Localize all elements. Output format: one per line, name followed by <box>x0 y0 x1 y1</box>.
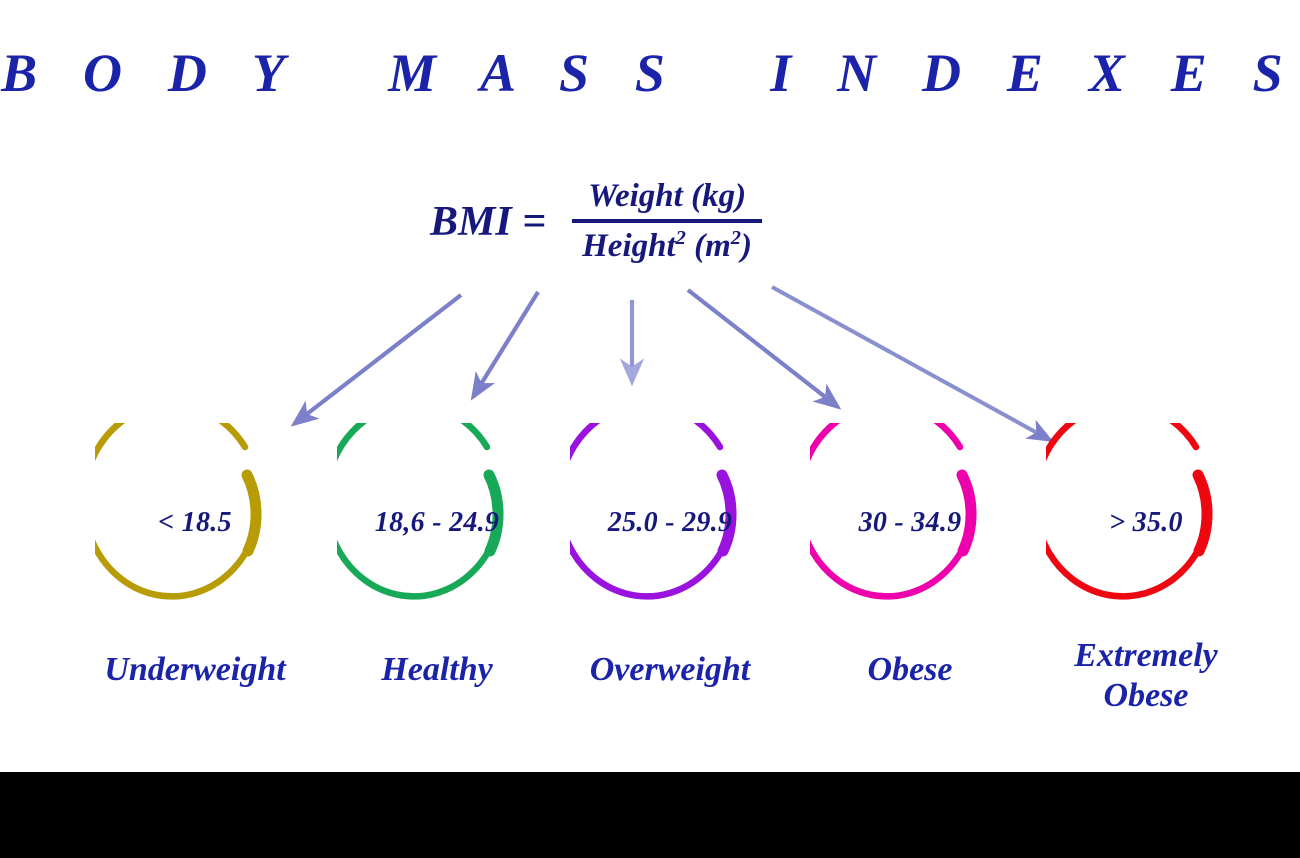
bmi-formula: BMI = Weight (kg) Height2 (m2) <box>430 176 762 268</box>
label-healthy: Healthy <box>307 650 567 690</box>
label-underweight: Underweight <box>65 650 325 690</box>
extremely-obese-ring-wrap: > 35.0 <box>1046 423 1246 623</box>
extremely-obese-value: > 35.0 <box>1046 423 1246 623</box>
denominator-unit-close: ) <box>741 228 752 264</box>
arrow-to-extremely-obese <box>772 287 1050 440</box>
formula-fraction: Weight (kg) Height2 (m2) <box>572 176 762 268</box>
formula-denominator: Height2 (m2) <box>572 223 762 267</box>
underweight-ring-wrap: < 18.5 <box>95 423 295 623</box>
watermark-bar: alamy Image ID: 2AGF3NA www.alamy.com <box>0 772 1300 858</box>
page-title: B O D Y M A S S I N D E X E S <box>0 44 1300 103</box>
denominator-base: Height <box>582 228 676 264</box>
arrow-to-obese <box>688 290 838 407</box>
label-obese: Obese <box>780 650 1040 690</box>
arrow-to-underweight <box>294 295 461 424</box>
healthy-value: 18,6 - 24.9 <box>337 423 537 623</box>
overweight-value: 25.0 - 29.9 <box>570 423 770 623</box>
bmi-infographic: B O D Y M A S S I N D E X E S BMI = Weig… <box>0 0 1300 858</box>
denominator-unit-exponent: 2 <box>731 227 741 249</box>
healthy-ring-wrap: 18,6 - 24.9 <box>337 423 537 623</box>
denominator-exponent: 2 <box>676 227 686 249</box>
underweight-value: < 18.5 <box>95 423 295 623</box>
obese-ring-wrap: 30 - 34.9 <box>810 423 1010 623</box>
formula-numerator: Weight (kg) <box>578 176 756 219</box>
arrow-to-healthy <box>473 292 538 397</box>
label-extremely-obese: Extremely Obese <box>1016 636 1276 716</box>
denominator-unit-open: (m <box>686 228 731 264</box>
formula-left-side: BMI = <box>430 201 572 243</box>
overweight-ring-wrap: 25.0 - 29.9 <box>570 423 770 623</box>
obese-value: 30 - 34.9 <box>810 423 1010 623</box>
label-overweight: Overweight <box>540 650 800 690</box>
